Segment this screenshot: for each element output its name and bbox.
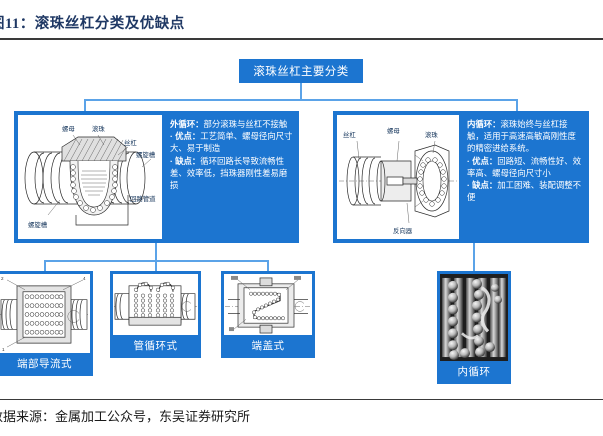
card-internal-circulation-photo: 内循环 [437, 271, 511, 384]
card-end-deflector-type: 2 4 1 端部导流式 [0, 271, 93, 376]
figure-label-nut: 螺母 [387, 126, 400, 135]
text-line-cons: · 缺点：加工困难、装配调整不便 [467, 179, 583, 203]
connector-left-branch-stem [155, 243, 157, 261]
connector-child-duanbu-drop [44, 260, 46, 271]
card-label-end-deflector-type: 端部导流式 [0, 353, 90, 373]
title-divider [0, 38, 603, 40]
text-internal-circulation: 内循环：滚珠始终与丝杠接触，适用于高速高敏高刚性度的精密进给系统。 · 优点：回… [463, 115, 585, 239]
figure-label-screw: 丝杠 [124, 138, 137, 147]
connector-right-branch-stem [473, 243, 475, 271]
connector-root-stem [300, 83, 302, 100]
figure-label-reverser: 反向器 [393, 226, 413, 235]
connector-branch-left-drop [84, 99, 86, 111]
connector-branch-right-drop [516, 99, 518, 111]
card-label-end-cap-type: 端盖式 [224, 335, 312, 355]
text-lead-pros: · 优点： [170, 131, 200, 141]
external-circulation-schematic: 螺母 滚珠 丝杠 螺旋槽 回路管道 螺旋槽 [18, 115, 162, 239]
figure-label-screw: 丝杠 [343, 130, 356, 139]
figure-label-return-tube: 回路管道 [130, 194, 156, 203]
connector-child-duangai-drop [267, 260, 269, 271]
schematic-ref-2: 2 [1, 276, 4, 281]
text-line-definition: 内循环：滚珠始终与丝杠接触，适用于高速高敏高刚性度的精密进给系统。 [467, 118, 583, 155]
schematic-ref-1: 1 [2, 347, 5, 352]
text-external-circulation: 外循环：部分滚珠与丝杠不接触 · 优点：工艺简单、螺母径向尺寸大、易于制造 · … [166, 115, 295, 239]
connector-root-horizontal [84, 99, 517, 101]
schematic-ref-4: 4 [83, 276, 86, 281]
text-lead-cons: · 缺点： [170, 156, 200, 166]
figure-internal-circulation: 丝杠 螺母 滚珠 反向器 [337, 115, 459, 239]
text-line-pros: · 优点：工艺简单、螺母径向尺寸大、易于制造 [170, 130, 293, 154]
figure-label-helical-groove-bottom: 螺旋槽 [28, 220, 48, 229]
text-line-pros: · 优点：回路短、流畅性好、效率高、螺母径向尺寸小 [467, 155, 583, 179]
figure-label-ball: 滚珠 [425, 130, 438, 139]
figure-label-nut: 螺母 [62, 124, 75, 133]
card-image-end-cap [224, 274, 312, 335]
card-image-internal-circulation [440, 274, 508, 361]
root-node-ball-screw-classification: 滚珠丝杠主要分类 [239, 59, 363, 83]
text-lead-pros: · 优点： [467, 156, 497, 166]
card-label-internal-circulation: 内循环 [440, 361, 508, 381]
page-title: 图11：滚珠丝杠分类及优缺点 [0, 12, 185, 33]
card-tube-circulation-type: 管循环式 [110, 271, 201, 358]
figure-label-helical-groove-top: 螺旋槽 [136, 150, 156, 159]
card-end-cap-type: 端盖式 [221, 271, 315, 358]
branch-external-circulation: 螺母 滚珠 丝杠 螺旋槽 回路管道 螺旋槽 外循环：部分滚珠与丝杠不接触 · 优… [14, 111, 299, 243]
text-line-definition: 外循环：部分滚珠与丝杠不接触 [170, 118, 293, 130]
text-line-cons: · 缺点：循环回路长导致流畅性差、效率低，挡珠器刚性差易磨损 [170, 155, 293, 192]
connector-child-guanxun-drop [155, 260, 157, 271]
internal-circulation-photo [440, 274, 508, 361]
text-lead-cons: · 缺点： [467, 180, 497, 190]
card-label-tube-circulation-type: 管循环式 [113, 335, 198, 355]
text-lead-definition: 外循环： [170, 119, 204, 129]
internal-circulation-schematic: 丝杠 螺母 滚珠 反向器 [337, 115, 459, 239]
tube-circulation-schematic [113, 274, 198, 335]
card-image-tube-circulation [113, 274, 198, 335]
end-cap-schematic [224, 274, 312, 335]
branch-internal-circulation: 丝杠 螺母 滚珠 反向器 内循环：滚珠始终与丝杠接触，适用于高速高敏高刚性度的精… [333, 111, 589, 243]
figure-label-ball: 滚珠 [92, 124, 105, 133]
text-lead-definition: 内循环： [467, 119, 501, 129]
footer-divider [0, 399, 603, 400]
source-note: 数据来源：金属加工公众号，东吴证券研究所 [0, 406, 250, 425]
card-image-end-deflector: 2 4 1 [0, 274, 90, 353]
figure-external-circulation: 螺母 滚珠 丝杠 螺旋槽 回路管道 螺旋槽 [18, 115, 162, 239]
end-deflector-schematic: 2 4 1 [0, 274, 90, 353]
text-body-definition: 部分滚珠与丝杠不接触 [204, 119, 288, 129]
